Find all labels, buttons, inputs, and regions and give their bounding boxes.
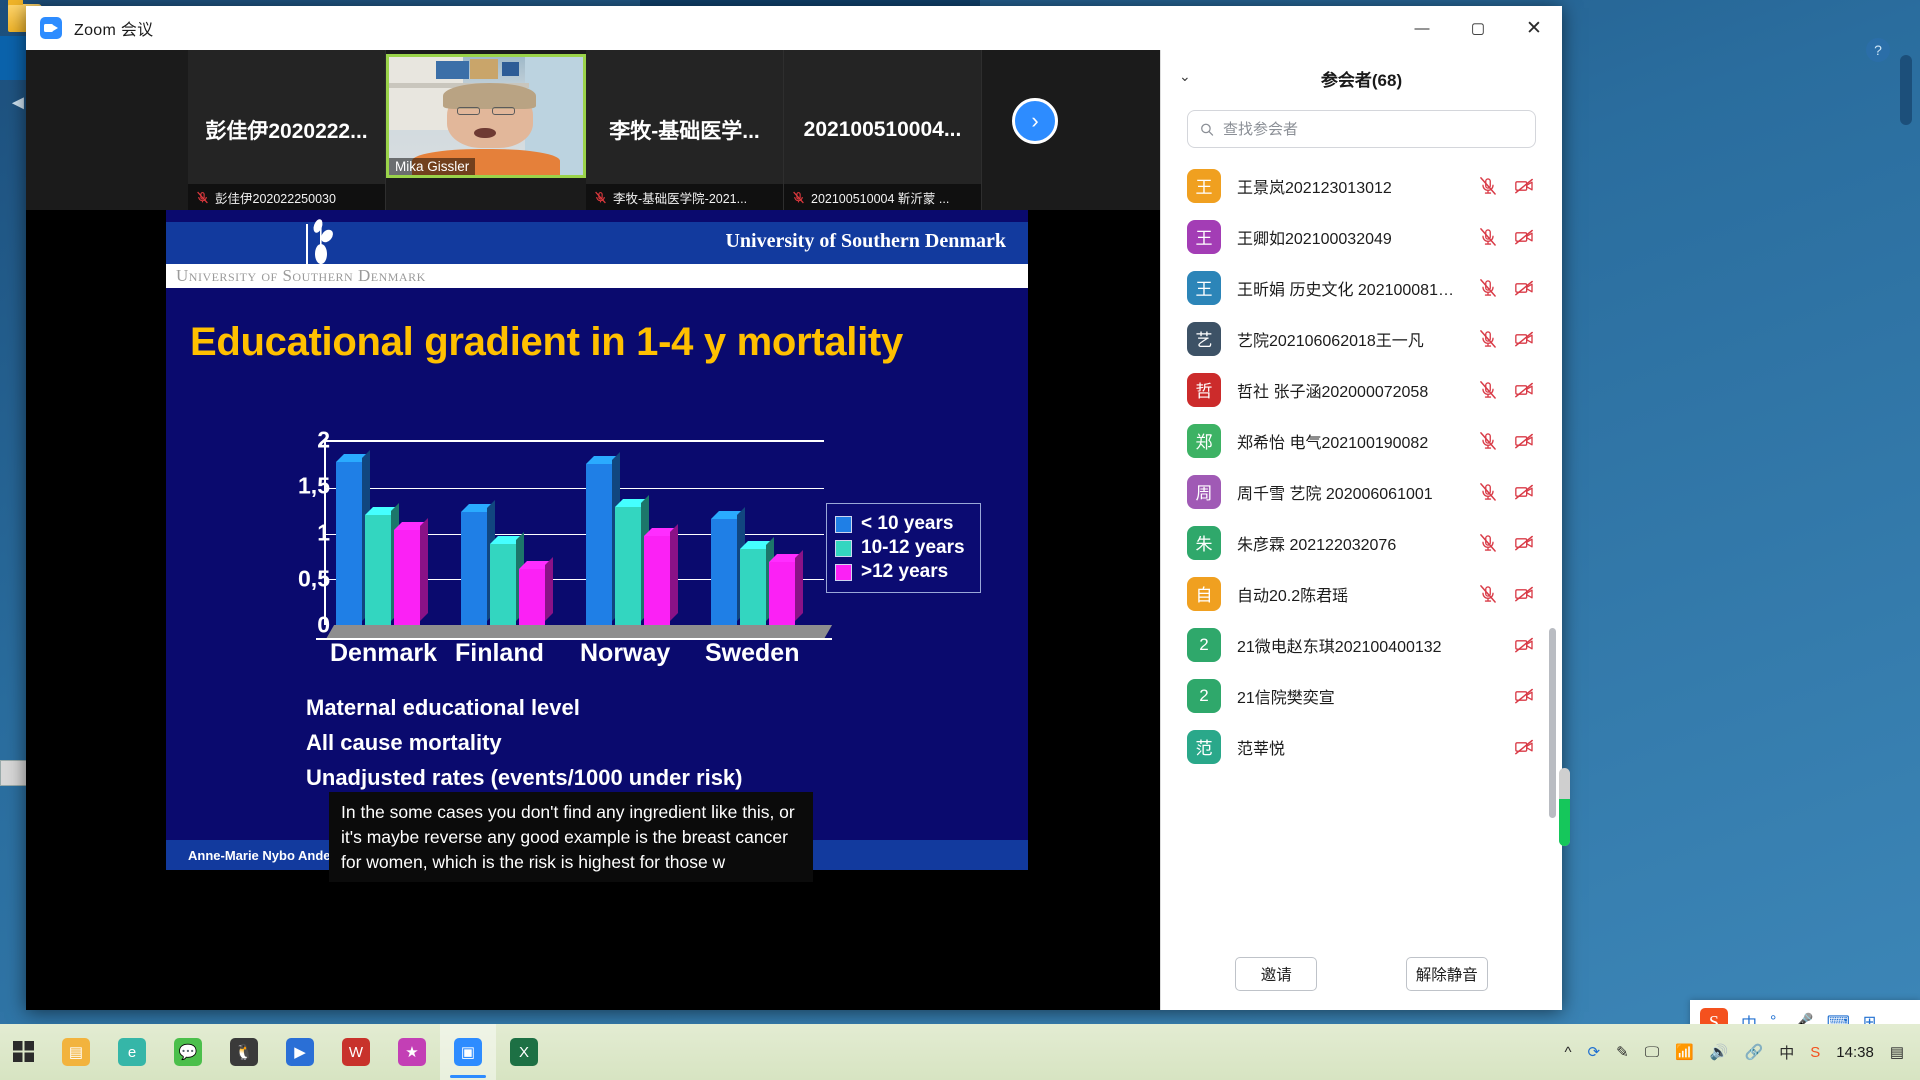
thumbnail-spacer [26, 50, 188, 210]
participant-row[interactable]: 艺艺院202106062018王一凡 [1161, 313, 1562, 364]
legend-swatch [835, 564, 852, 581]
zoom-body: 彭佳伊2020222... 彭佳伊202022250030 [26, 50, 1562, 1010]
video-name-label: Mika Gissler [389, 158, 475, 175]
mic-off-icon[interactable] [1478, 278, 1498, 298]
mic-off-icon[interactable] [1478, 533, 1498, 553]
unmute-button[interactable]: 解除静音 [1406, 957, 1488, 991]
thumbnail-footer: 202100510004 靳沂蒙 ... [784, 184, 981, 210]
mic-off-icon[interactable] [1478, 227, 1498, 247]
participant-name: 哲社 张子涵202000072058 [1237, 378, 1462, 402]
media-player-icon[interactable]: ▶ [272, 1024, 328, 1080]
thumbnail-footer: 李牧-基础医学院-2021... [586, 184, 783, 210]
wechat-icon[interactable]: 💬 [160, 1024, 216, 1080]
participant-status-icons [1478, 278, 1534, 298]
participant-status-icons [1478, 329, 1534, 349]
chart-bar [490, 544, 516, 625]
participant-name: 郑希怡 电气202100190082 [1237, 429, 1462, 453]
participant-row[interactable]: 王王卿如202100032049 [1161, 211, 1562, 262]
video-person-glasses-left [457, 107, 480, 115]
edge-browser-icon[interactable]: e [104, 1024, 160, 1080]
file-explorer-icon-glyph: ▤ [62, 1038, 90, 1066]
wps-office-icon[interactable]: W [328, 1024, 384, 1080]
video-off-icon[interactable] [1514, 278, 1534, 298]
participant-status-icons [1478, 380, 1534, 400]
chart-group [711, 442, 836, 625]
participant-row[interactable]: 王王景岚202123013012 [1161, 160, 1562, 211]
participant-name: 自动20.2陈君瑶 [1237, 582, 1462, 606]
notification-icon[interactable]: ▤ [1890, 1043, 1904, 1061]
edge-browser-icon-glyph: e [118, 1038, 146, 1066]
participant-name: 21信院樊奕宣 [1237, 684, 1462, 708]
file-explorer-icon[interactable]: ▤ [48, 1024, 104, 1080]
display-icon[interactable]: 🖵 [1645, 1044, 1659, 1061]
video-off-icon[interactable] [1514, 635, 1534, 655]
participant-thumbnail-strip: 彭佳伊2020222... 彭佳伊202022250030 [26, 50, 1160, 210]
avatar: 2 [1187, 679, 1221, 713]
chart-bar [519, 569, 545, 625]
thumbnail-display-name: 李牧-基础医学... [609, 115, 760, 145]
video-shelf-box-blue [436, 61, 469, 80]
participant-status-icons [1478, 176, 1534, 196]
mic-off-icon[interactable] [1478, 380, 1498, 400]
participants-title: 参会者(68) [1161, 66, 1562, 91]
participant-status-icons [1478, 635, 1534, 655]
desktop-scrollbar[interactable] [1900, 55, 1912, 125]
thumbnail-name-label: 彭佳伊202022250030 [215, 188, 336, 207]
maximize-button[interactable]: ▢ [1450, 6, 1506, 50]
legend-item: < 10 years [835, 513, 972, 535]
avatar: 艺 [1187, 322, 1221, 356]
participant-row[interactable]: 周周千雪 艺院 202006061001 [1161, 466, 1562, 517]
mic-off-icon [792, 190, 805, 205]
media-player-icon-glyph: ▶ [286, 1038, 314, 1066]
sync-icon[interactable]: ⟳ [1588, 1043, 1601, 1061]
avatar: 周 [1187, 475, 1221, 509]
bar-chart: 00,511,52 DenmarkFinlandNorwaySweden [276, 440, 886, 640]
participants-scrollbar[interactable] [1549, 628, 1556, 818]
video-off-icon[interactable] [1514, 533, 1534, 553]
help-icon[interactable]: ? [1866, 38, 1890, 62]
pen-icon[interactable]: ✎ [1616, 1043, 1629, 1061]
video-off-icon[interactable] [1514, 686, 1534, 706]
star-app-icon-glyph: ★ [398, 1038, 426, 1066]
thumbnail-name-label: 202100510004 靳沂蒙 ... [811, 188, 949, 207]
avatar: 2 [1187, 628, 1221, 662]
wps-office-icon-glyph: W [342, 1038, 370, 1066]
zoom-meeting-window: Zoom 会议 — ▢ ✕ 彭佳伊2020222... [26, 6, 1562, 1010]
participant-name: 艺院202106062018王一凡 [1237, 327, 1462, 351]
participants-panel-header: ⌄ 参会者(68) [1161, 50, 1562, 106]
mic-off-icon[interactable] [1478, 329, 1498, 349]
participant-status-icons [1478, 533, 1534, 553]
mic-off-icon[interactable] [1478, 482, 1498, 502]
avatar: 朱 [1187, 526, 1221, 560]
chart-bar [615, 507, 641, 625]
chart-y-tick: 1 [317, 519, 330, 546]
search-input[interactable] [1223, 121, 1523, 138]
mic-icon-placeholder [1478, 737, 1498, 757]
participants-list[interactable]: 王王景岚202123013012王王卿如202100032049王王昕娟 历史文… [1161, 158, 1562, 938]
participants-panel: ⌄ 参会者(68) 王王景岚202123013012王王卿如2021000320… [1160, 50, 1562, 1010]
participant-name: 王昕娟 历史文化 202100081053 [1237, 276, 1462, 300]
participant-status-icons [1478, 584, 1534, 604]
chart-bar [644, 536, 670, 625]
video-shelf-box-tan [470, 59, 497, 79]
desktop-arrow-icon: ◄ [8, 92, 28, 115]
legend-swatch [835, 540, 852, 557]
slide-note: All cause mortality [306, 730, 502, 756]
slide-brand-title: University of Southern Denmark [725, 230, 1006, 253]
participant-name: 朱彦霖 202122032076 [1237, 531, 1462, 555]
ime-icon[interactable]: 中 [1779, 1042, 1794, 1063]
volume-icon[interactable]: 🔊 [1710, 1043, 1729, 1061]
slide-title: Educational gradient in 1-4 y mortality [190, 320, 903, 365]
panel-edge-scrollbar[interactable] [1559, 768, 1570, 846]
legend-item: 10-12 years [835, 537, 972, 559]
windows-icon[interactable] [0, 1041, 48, 1063]
chart-bar [394, 530, 420, 625]
wifi-icon[interactable]: 📶 [1675, 1043, 1694, 1061]
wechat-icon-glyph: 💬 [174, 1038, 202, 1066]
search-icon [1200, 122, 1214, 137]
video-thumbnail[interactable]: 李牧-基础医学... 李牧-基础医学院-2021... [586, 50, 784, 210]
chart-group [336, 442, 461, 625]
mic-off-icon[interactable] [1478, 176, 1498, 196]
video-shelf-box-blue2 [502, 62, 519, 76]
invite-button[interactable]: 邀请 [1235, 957, 1317, 991]
video-off-icon[interactable] [1514, 380, 1534, 400]
video-off-icon[interactable] [1514, 584, 1534, 604]
live-caption-overlay: In the some cases you don't find any ing… [329, 792, 813, 882]
mic-icon-placeholder [1478, 686, 1498, 706]
video-thumbnail[interactable]: 202100510004... 202100510004 靳沂蒙 ... [784, 50, 982, 210]
excel-icon[interactable]: X [496, 1024, 552, 1080]
tray-expand-icon[interactable]: ^ [1565, 1044, 1572, 1061]
slide-brand-wordmark: University of Southern Denmark [176, 266, 426, 286]
taskbar-clock[interactable]: 14:38 [1836, 1044, 1874, 1061]
chart-bar [365, 515, 391, 625]
qq-icon[interactable]: 🐧 [216, 1024, 272, 1080]
participant-row[interactable]: 哲哲社 张子涵202000072058 [1161, 364, 1562, 415]
slide-note: Maternal educational level [306, 695, 580, 721]
mic-icon-placeholder [1478, 635, 1498, 655]
windows-taskbar: ▤e💬🐧▶W★▣X ^ ⟳ ✎ 🖵 📶 🔊 🔗 中 S 14:38 ▤ [0, 1024, 1920, 1080]
avatar: 哲 [1187, 373, 1221, 407]
legend-label: < 10 years [861, 513, 953, 535]
avatar: 范 [1187, 730, 1221, 764]
chart-y-tick: 0,5 [298, 565, 330, 592]
chart-y-tick: 1,5 [298, 473, 330, 500]
zoom-logo-icon [40, 17, 62, 39]
thumbnail-display-name: 202100510004... [804, 118, 962, 142]
participants-footer: 邀请 解除静音 [1161, 938, 1562, 1010]
avatar: 自 [1187, 577, 1221, 611]
avatar: 王 [1187, 169, 1221, 203]
window-titlebar: Zoom 会议 — ▢ ✕ [26, 6, 1562, 50]
video-off-icon[interactable] [1514, 431, 1534, 451]
participant-row[interactable]: 范范莘悦 [1161, 721, 1562, 772]
mic-off-icon[interactable] [1478, 431, 1498, 451]
chart-bar [586, 464, 612, 625]
next-page-button[interactable]: › [1012, 98, 1058, 144]
video-off-icon[interactable] [1514, 227, 1534, 247]
participant-name: 范莘悦 [1237, 735, 1462, 759]
shared-slide: University of Southern Denmark Universit… [166, 210, 1028, 870]
qq-icon-glyph: 🐧 [230, 1038, 258, 1066]
avatar: 王 [1187, 220, 1221, 254]
chart-bar [711, 519, 737, 625]
participant-name: 王卿如202100032049 [1237, 225, 1462, 249]
excel-icon-glyph: X [510, 1038, 538, 1066]
participant-status-icons [1478, 227, 1534, 247]
participant-name: 王景岚202123013012 [1237, 174, 1462, 198]
zoom-app-icon[interactable]: ▣ [440, 1024, 496, 1080]
participant-row[interactable]: 221信院樊奕宣 [1161, 670, 1562, 721]
chart-bar [461, 512, 487, 625]
chart-group [586, 442, 711, 625]
chart-category-label: Finland [455, 639, 544, 668]
participant-row[interactable]: 自自动20.2陈君瑶 [1161, 568, 1562, 619]
window-controls: — ▢ ✕ [1394, 6, 1562, 50]
meeting-stage: 彭佳伊2020222... 彭佳伊202022250030 [26, 50, 1160, 1010]
thumbnail-display-name: 彭佳伊2020222... [205, 115, 367, 145]
thumbnail-footer: 彭佳伊202022250030 [188, 184, 385, 210]
slide-note: Unadjusted rates (events/1000 under risk… [306, 765, 743, 791]
search-box[interactable] [1187, 110, 1536, 148]
chart-bar [740, 549, 766, 625]
thumbnail-name-label: 李牧-基础医学院-2021... [613, 188, 747, 207]
chart-y-tick: 0 [317, 612, 330, 639]
window-title: Zoom 会议 [74, 16, 153, 40]
avatar: 郑 [1187, 424, 1221, 458]
video-off-icon[interactable] [1514, 482, 1534, 502]
video-thumbnail[interactable]: 彭佳伊2020222... 彭佳伊202022250030 [188, 50, 386, 210]
participant-status-icons [1478, 482, 1534, 502]
system-tray: ^ ⟳ ✎ 🖵 📶 🔊 🔗 中 S 14:38 ▤ [1565, 1042, 1920, 1063]
video-off-icon[interactable] [1514, 737, 1534, 757]
chart-plot-area [324, 440, 824, 625]
mic-off-icon [196, 190, 209, 205]
minimize-button[interactable]: — [1394, 6, 1450, 50]
legend-label: >12 years [861, 561, 948, 583]
video-person-glasses-right [492, 107, 515, 115]
link-icon[interactable]: 🔗 [1745, 1043, 1764, 1061]
chart-category-label: Norway [580, 639, 670, 668]
chart-bar [336, 462, 362, 625]
video-person-hair [443, 83, 536, 109]
star-app-icon[interactable]: ★ [384, 1024, 440, 1080]
participant-row[interactable]: 221微电赵东琪202100400132 [1161, 619, 1562, 670]
participant-name: 周千雪 艺院 202006061001 [1237, 480, 1462, 504]
participant-status-icons [1478, 686, 1534, 706]
participant-status-icons [1478, 431, 1534, 451]
sdu-leaf-logo-icon [309, 218, 335, 268]
zoom-app-icon-glyph: ▣ [454, 1038, 482, 1066]
participant-status-icons [1478, 737, 1534, 757]
active-speaker-video-tile[interactable]: Mika Gissler [386, 54, 586, 178]
participant-row[interactable]: 朱朱彦霖 202122032076 [1161, 517, 1562, 568]
participant-name: 21微电赵东琪202100400132 [1237, 633, 1462, 657]
video-off-icon[interactable] [1514, 329, 1534, 349]
participants-search-wrap [1161, 106, 1562, 158]
close-button[interactable]: ✕ [1506, 6, 1562, 50]
chart-category-label: Sweden [705, 639, 799, 668]
participant-row[interactable]: 郑郑希怡 电气202100190082 [1161, 415, 1562, 466]
legend-label: 10-12 years [861, 537, 965, 559]
mic-off-icon [594, 190, 607, 205]
chart-group [461, 442, 586, 625]
sogou-icon[interactable]: S [1810, 1044, 1820, 1061]
chart-bar [769, 562, 795, 625]
chart-y-tick: 2 [317, 427, 330, 454]
chevron-down-icon[interactable]: ⌄ [1179, 68, 1191, 85]
video-off-icon[interactable] [1514, 176, 1534, 196]
chart-category-label: Denmark [330, 639, 437, 668]
chart-legend: < 10 years10-12 years>12 years [826, 503, 981, 593]
chart-floor [326, 625, 832, 639]
avatar: 王 [1187, 271, 1221, 305]
participant-row[interactable]: 王王昕娟 历史文化 202100081053 [1161, 262, 1562, 313]
legend-swatch [835, 516, 852, 533]
legend-item: >12 years [835, 561, 972, 583]
mic-off-icon[interactable] [1478, 584, 1498, 604]
